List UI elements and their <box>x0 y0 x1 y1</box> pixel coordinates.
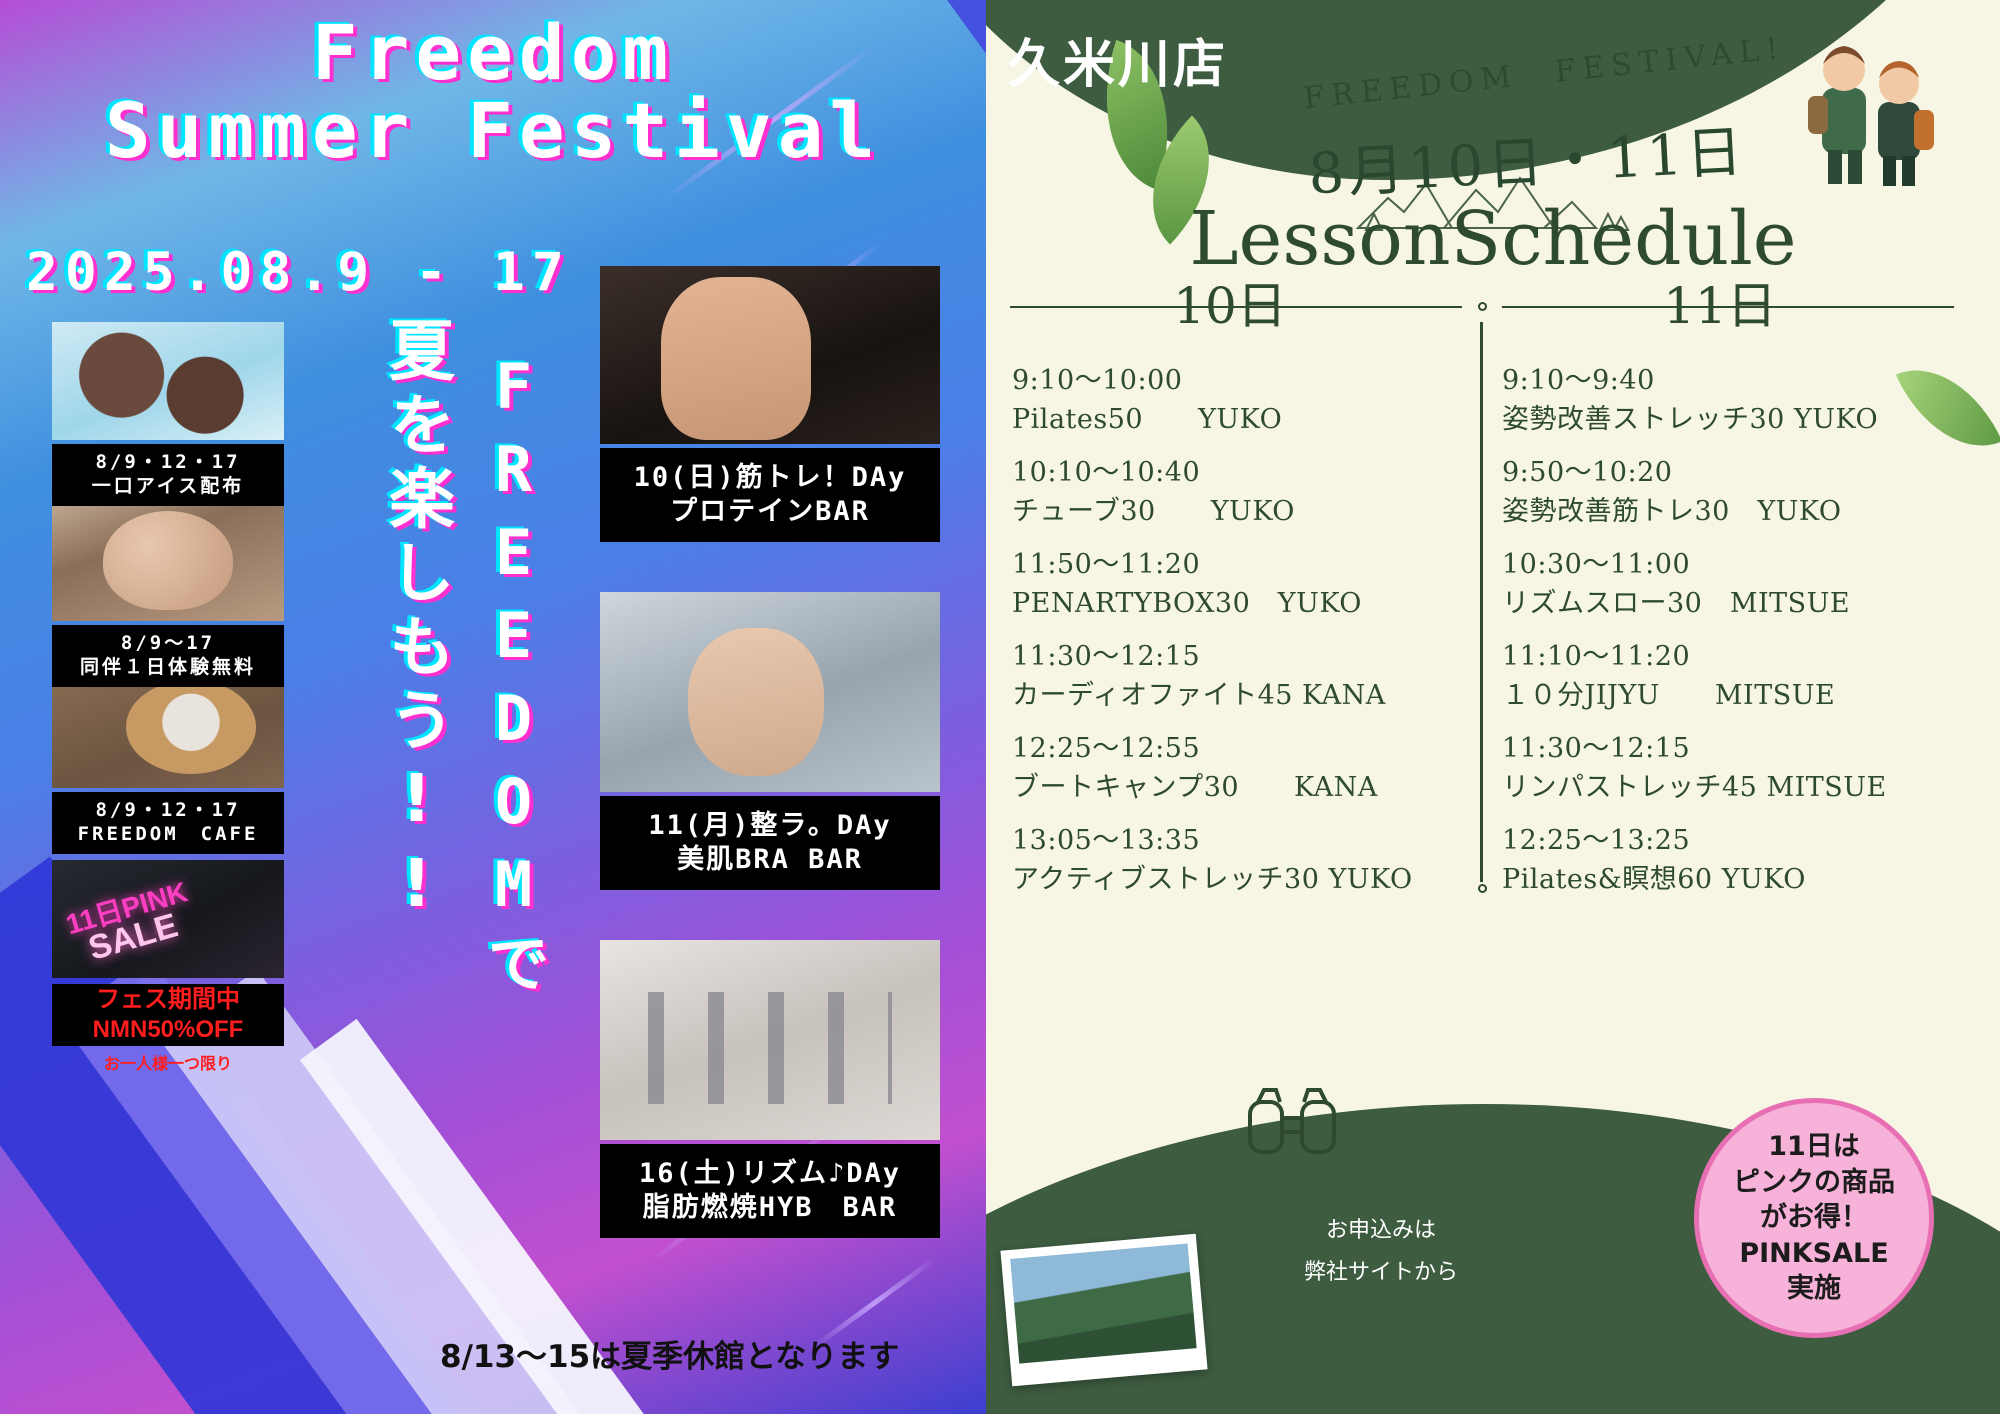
vertical-catchcopy: 夏を楽しもう!! <box>368 316 464 930</box>
pink-badge-line-4: PINKSALE <box>1739 1236 1888 1272</box>
slot-time: 9:10〜9:40 <box>1502 358 1938 397</box>
nmn-line-1: フェス期間中 <box>96 985 240 1015</box>
binoculars-icon <box>1238 1084 1358 1164</box>
promo-date-ice: 8/9・12・17 <box>95 451 240 475</box>
right-panel-lesson-schedule: 久米川店 FREEDOM FESTIVAL! 8月10日・11日 LessonS… <box>986 0 2000 1414</box>
apply-line-1: お申込みは <box>1304 1210 1458 1252</box>
left-panel-summer-festival: Freedom Summer Festival 2025.08.9 - 17 8… <box>0 0 986 1414</box>
promo-text-cafe: FREEDOM CAFE <box>78 823 259 847</box>
day-heading-11: 11日 <box>1502 266 1938 338</box>
photo-dance-class-group <box>600 940 940 1140</box>
photo-chocolate-ice-cups <box>52 322 284 440</box>
slot-name: １０分JIJYU MITSUE <box>1502 673 1938 712</box>
summer-closure-note: 8/13〜15は夏季休館となります <box>440 1331 899 1376</box>
festival-title: Freedom Summer Festival <box>0 14 986 169</box>
slot-time: 11:30〜12:15 <box>1012 634 1448 673</box>
promo-label-cafe: 8/9・12・17 FREEDOM CAFE <box>52 792 284 854</box>
slot-time: 13:05〜13:35 <box>1012 818 1448 857</box>
slot-name: 姿勢改善筋トレ30 YUKO <box>1502 489 1938 528</box>
polaroid-photo-mountain-landscape <box>1000 1234 1207 1387</box>
nmn-promo-box: フェス期間中 NMN50%OFF <box>52 984 284 1046</box>
pink-badge-line-3: がお得！ <box>1760 1200 1868 1236</box>
slot-time: 10:30〜11:00 <box>1502 542 1938 581</box>
application-instructions: お申込みは 弊社サイトから <box>1304 1210 1458 1294</box>
slot-name: チューブ30 YUKO <box>1012 489 1448 528</box>
polaroid-image-2 <box>1010 1243 1196 1363</box>
schedule-slot: 9:10〜9:40 姿勢改善ストレッチ30 YUKO <box>1502 358 1938 436</box>
schedule-slot: 12:25〜13:25 Pilates&瞑想60 YUKO <box>1502 818 1938 896</box>
day-event-10-line1: 10(日)筋トレ！DAy <box>634 461 907 495</box>
pink-badge-line-2: ピンクの商品 <box>1733 1165 1895 1201</box>
schedule-slot: 11:10〜11:20 １０分JIJYU MITSUE <box>1502 634 1938 712</box>
festival-date-range: 2025.08.9 - 17 <box>26 246 571 300</box>
pink-badge-line-5: 実施 <box>1787 1271 1841 1307</box>
slot-time: 9:10〜10:00 <box>1012 358 1448 397</box>
schedule-slot: 9:50〜10:20 姿勢改善筋トレ30 YUKO <box>1502 450 1938 528</box>
schedule-slot: 10:10〜10:40 チューブ30 YUKO <box>1012 450 1448 528</box>
promo-date-trial: 8/9〜17 <box>121 632 215 656</box>
schedule-dot-top <box>1478 302 1487 311</box>
store-name: 久米川店 <box>1008 22 1228 97</box>
promo-label-trial: 8/9〜17 同伴１日体験無料 <box>52 625 284 687</box>
pink-badge-line-1: 11日は <box>1768 1129 1860 1165</box>
slot-name: リンパストレッチ45 MITSUE <box>1502 765 1938 804</box>
slot-time: 11:10〜11:20 <box>1502 634 1938 673</box>
day-event-label-16: 16(土)リズム♪DAy 脂肪燃焼HYB BAR <box>600 1144 940 1238</box>
schedule-slot: 11:30〜12:15 カーディオファイト45 KANA <box>1012 634 1448 712</box>
day-event-16-line1: 16(土)リズム♪DAy <box>639 1157 901 1191</box>
schedule-column-day11: 11日 9:10〜9:40 姿勢改善ストレッチ30 YUKO 9:50〜10:2… <box>1502 266 1938 910</box>
schedule-slot: 11:30〜12:15 リンパストレッチ45 MITSUE <box>1502 726 1938 804</box>
pink-sale-badge: 11日は ピンクの商品 がお得！ PINKSALE 実施 <box>1694 1098 1934 1338</box>
slot-name: 姿勢改善ストレッチ30 YUKO <box>1502 397 1938 436</box>
promo-date-cafe: 8/9・12・17 <box>95 799 240 823</box>
schedule-slot: 11:50〜11:20 PENARTYBOX30 YUKO <box>1012 542 1448 620</box>
slot-name: PENARTYBOX30 YUKO <box>1012 581 1448 620</box>
photo-two-smiling-women <box>52 487 284 621</box>
slot-name: ブートキャンプ30 KANA <box>1012 765 1448 804</box>
day-event-label-11: 11(月)整ラ。DAy 美肌BRA BAR <box>600 796 940 890</box>
slot-name: リズムスロー30 MITSUE <box>1502 581 1938 620</box>
slot-time: 9:50〜10:20 <box>1502 450 1938 489</box>
nmn-note: お一人様一つ限り <box>52 1050 284 1074</box>
slot-name: Pilates&瞑想60 YUKO <box>1502 857 1938 896</box>
slot-time: 12:25〜13:25 <box>1502 818 1938 857</box>
schedule-slot: 13:05〜13:35 アクティブストレッチ30 YUKO <box>1012 818 1448 896</box>
schedule-dot-bottom <box>1478 884 1487 893</box>
day-event-10-line2: プロテインBAR <box>670 495 870 529</box>
day-heading-10: 10日 <box>1012 266 1448 338</box>
day-event-label-10: 10(日)筋トレ！DAy プロテインBAR <box>600 448 940 542</box>
slot-name: Pilates50 YUKO <box>1012 397 1448 436</box>
slot-time: 11:50〜11:20 <box>1012 542 1448 581</box>
schedule-slot: 12:25〜12:55 ブートキャンプ30 KANA <box>1012 726 1448 804</box>
slot-name: アクティブストレッチ30 YUKO <box>1012 857 1448 896</box>
schedule-column-divider <box>1480 322 1483 882</box>
slot-name: カーディオファイト45 KANA <box>1012 673 1448 712</box>
poster-root: Freedom Summer Festival 2025.08.9 - 17 8… <box>0 0 2000 1414</box>
photo-gym-workout-woman <box>600 266 940 444</box>
title-line-2: Summer Festival <box>0 92 986 170</box>
photo-pink-sale-neon: 11日PINK SALE <box>52 860 284 978</box>
apply-line-2: 弊社サイトから <box>1304 1252 1458 1294</box>
promo-text-trial: 同伴１日体験無料 <box>80 656 256 680</box>
day-event-11-line2: 美肌BRA BAR <box>677 843 863 877</box>
promo-label-ice: 8/9・12・17 一口アイス配布 <box>52 444 284 506</box>
slot-time: 10:10〜10:40 <box>1012 450 1448 489</box>
schedule-slot: 10:30〜11:00 リズムスロー30 MITSUE <box>1502 542 1938 620</box>
day-event-16-line2: 脂肪燃焼HYB BAR <box>643 1191 898 1225</box>
title-line-1: Freedom <box>0 14 986 92</box>
vertical-brand-text: FREEDOMで <box>468 350 558 1003</box>
slot-time: 12:25〜12:55 <box>1012 726 1448 765</box>
photo-yoga-meditation-woman <box>600 592 940 792</box>
nmn-line-2: NMN50%OFF <box>93 1015 244 1045</box>
schedule-slot: 9:10〜10:00 Pilates50 YUKO <box>1012 358 1448 436</box>
hikers-illustration-icon <box>1786 18 1966 198</box>
day-event-11-line1: 11(月)整ラ。DAy <box>648 809 891 843</box>
promo-text-ice: 一口アイス配布 <box>92 475 244 499</box>
schedule-column-day10: 10日 9:10〜10:00 Pilates50 YUKO 10:10〜10:4… <box>1012 266 1448 910</box>
slot-time: 11:30〜12:15 <box>1502 726 1938 765</box>
